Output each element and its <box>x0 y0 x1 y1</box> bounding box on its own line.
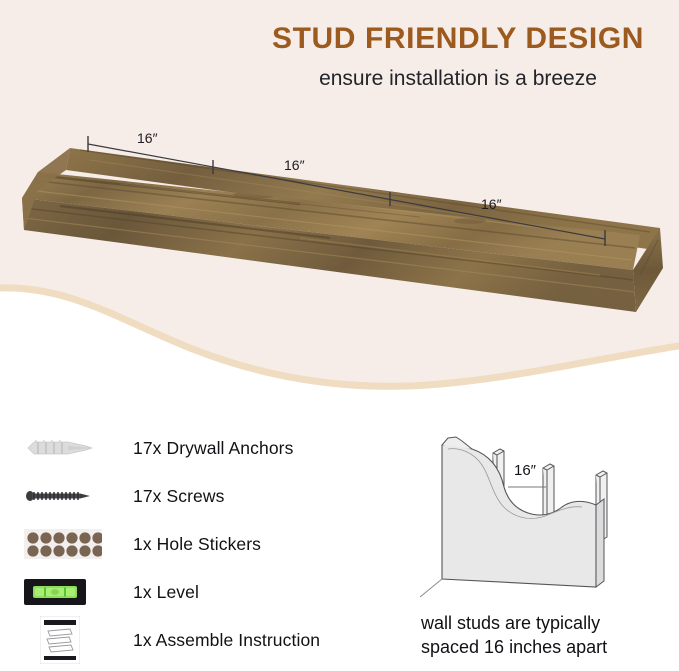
headline-block: STUD FRIENDLY DESIGN ensure installation… <box>248 22 668 91</box>
instruction-icon <box>24 618 120 662</box>
shelf-dimension-lines <box>0 118 679 258</box>
list-item-label: 1x Assemble Instruction <box>133 630 320 651</box>
stud-spacing-label: 16″ <box>514 462 537 479</box>
page-title: STUD FRIENDLY DESIGN <box>248 22 668 56</box>
dimension-label-segment-2: 16″ <box>284 157 305 173</box>
list-item: 1x Hole Stickers <box>0 520 400 568</box>
dimension-line-main <box>88 144 605 239</box>
page-subtitle: ensure installation is a breeze <box>248 66 668 91</box>
parts-list: 17x Drywall Anchors 17x Screws <box>0 424 400 664</box>
stud-diagram-caption: wall studs are typically spaced 16 inche… <box>421 612 676 660</box>
wall-stud-diagram: 16″ <box>420 425 670 605</box>
list-item-label: 1x Hole Stickers <box>133 534 261 555</box>
list-item: 1x Assemble Instruction <box>0 616 400 664</box>
list-item-label: 17x Screws <box>133 486 224 507</box>
product-infographic: STUD FRIENDLY DESIGN ensure installation… <box>0 0 679 671</box>
list-item: 1x Level <box>0 568 400 616</box>
drywall-panel <box>442 437 604 587</box>
list-item-label: 17x Drywall Anchors <box>133 438 293 459</box>
caption-line-2: spaced 16 inches apart <box>421 636 676 660</box>
list-item: 17x Screws <box>0 472 400 520</box>
caption-line-1: wall studs are typically <box>421 612 676 636</box>
dimension-label-segment-1: 16″ <box>137 130 158 146</box>
list-item: 17x Drywall Anchors <box>0 424 400 472</box>
diagram-ground-line <box>420 579 442 597</box>
hole-stickers-icon <box>24 522 120 566</box>
dimension-label-segment-3: 16″ <box>481 196 502 212</box>
list-item-label: 1x Level <box>133 582 199 603</box>
screw-icon <box>24 474 120 518</box>
level-icon <box>24 570 120 614</box>
drywall-anchor-icon <box>24 426 120 470</box>
